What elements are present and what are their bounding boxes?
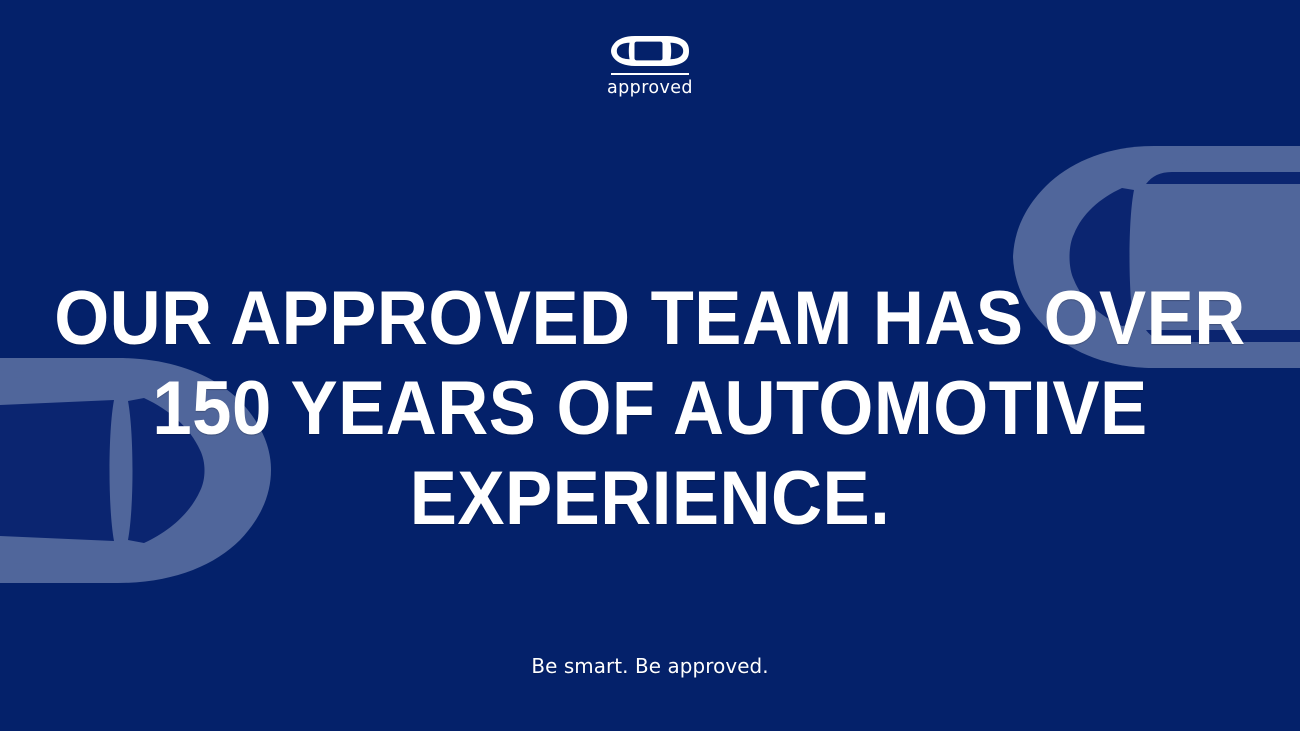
- car-top-view-icon: [611, 36, 689, 66]
- headline-line-1: OUR APPROVED TEAM HAS OVER: [46, 274, 1255, 364]
- tagline: Be smart. Be approved.: [20, 654, 1281, 678]
- headline-line-3: EXPERIENCE.: [46, 454, 1255, 544]
- slide-canvas: approved OUR APPROVED TEAM HAS OVER 150 …: [0, 0, 1300, 731]
- brand-divider-rule: [611, 73, 689, 75]
- page-title: OUR APPROVED TEAM HAS OVER 150 YEARS OF …: [0, 274, 1300, 544]
- headline-line-2: 150 YEARS OF AUTOMOTIVE: [46, 364, 1255, 454]
- brand-logo-lockup: approved: [0, 36, 1300, 99]
- brand-wordmark: approved: [607, 79, 693, 99]
